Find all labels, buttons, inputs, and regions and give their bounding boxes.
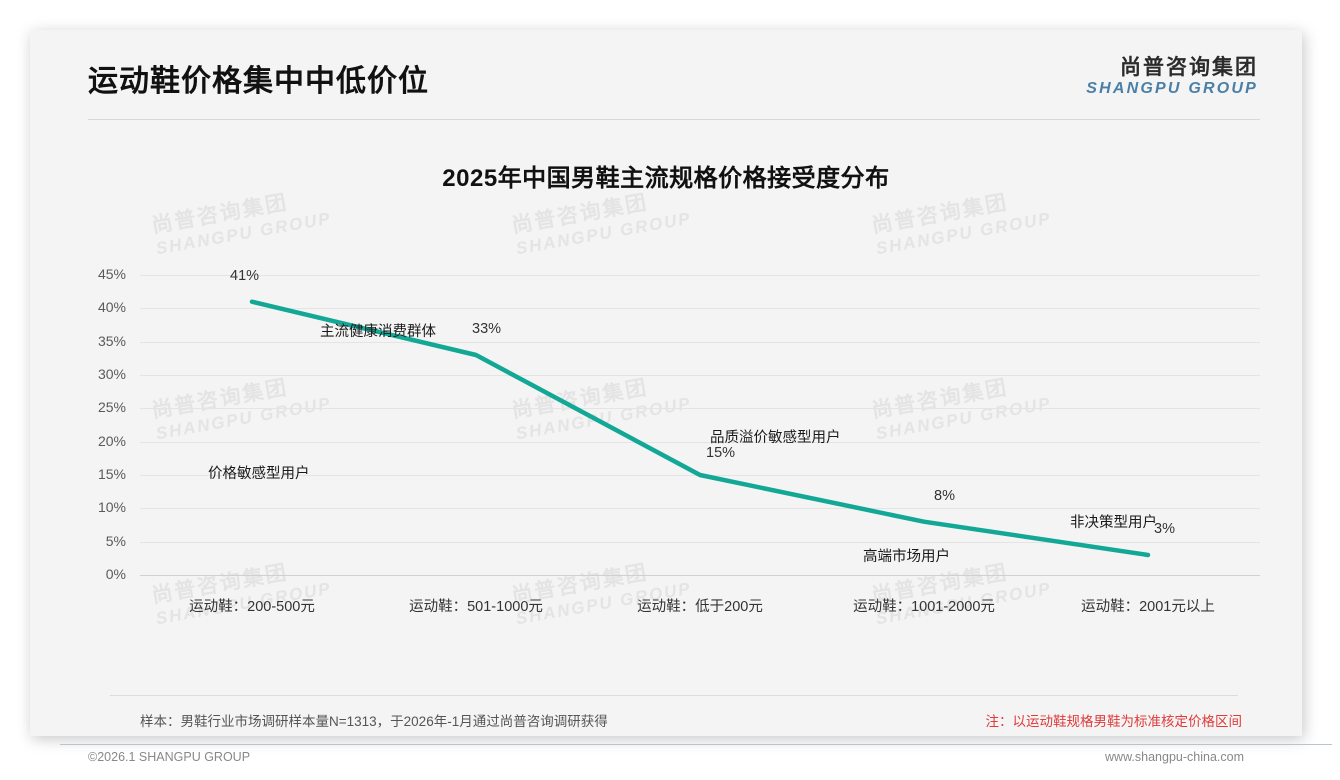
chart-annotation: 高端市场用户 — [863, 545, 950, 566]
x-axis-tick-label: 运动鞋：1001-2000元 — [812, 595, 1036, 616]
slide-card: 运动鞋价格集中中低价位 尚普咨询集团 SHANGPU GROUP 2025年中国… — [30, 30, 1302, 736]
notes-divider — [110, 695, 1238, 696]
series-line-chart — [30, 30, 1302, 736]
data-point-label: 15% — [706, 445, 735, 461]
remark-note: 注：以运动鞋规格男鞋为标准核定价格区间 — [986, 710, 1243, 730]
x-axis-tick-label: 运动鞋：200-500元 — [140, 595, 364, 616]
chart-annotation: 主流健康消费群体 — [320, 320, 436, 341]
x-axis-tick-label: 运动鞋：501-1000元 — [364, 595, 588, 616]
data-point-label: 41% — [230, 268, 259, 284]
chart-plot-area: 尚普咨询集团 SHANGPU GROUP 尚普咨询集团 SHANGPU GROU… — [30, 30, 1302, 736]
data-point-label: 8% — [934, 488, 955, 504]
data-point-label: 3% — [1154, 521, 1175, 537]
chart-annotation: 非决策型用户 — [1070, 511, 1157, 532]
footer-website: www.shangpu-china.com — [1105, 750, 1244, 764]
footer-divider — [60, 744, 1332, 745]
sample-note: 样本：男鞋行业市场调研样本量N=1313，于2026年-1月通过尚普咨询调研获得 — [140, 710, 608, 730]
chart-annotation: 价格敏感型用户 — [208, 462, 310, 483]
chart-annotation: 品质溢价敏感型用户 — [710, 426, 841, 447]
x-axis-tick-label: 运动鞋：2001元以上 — [1036, 595, 1260, 616]
x-axis-tick-label: 运动鞋：低于200元 — [588, 595, 812, 616]
footer-copyright: ©2026.1 SHANGPU GROUP — [88, 750, 250, 764]
data-point-label: 33% — [472, 321, 501, 337]
